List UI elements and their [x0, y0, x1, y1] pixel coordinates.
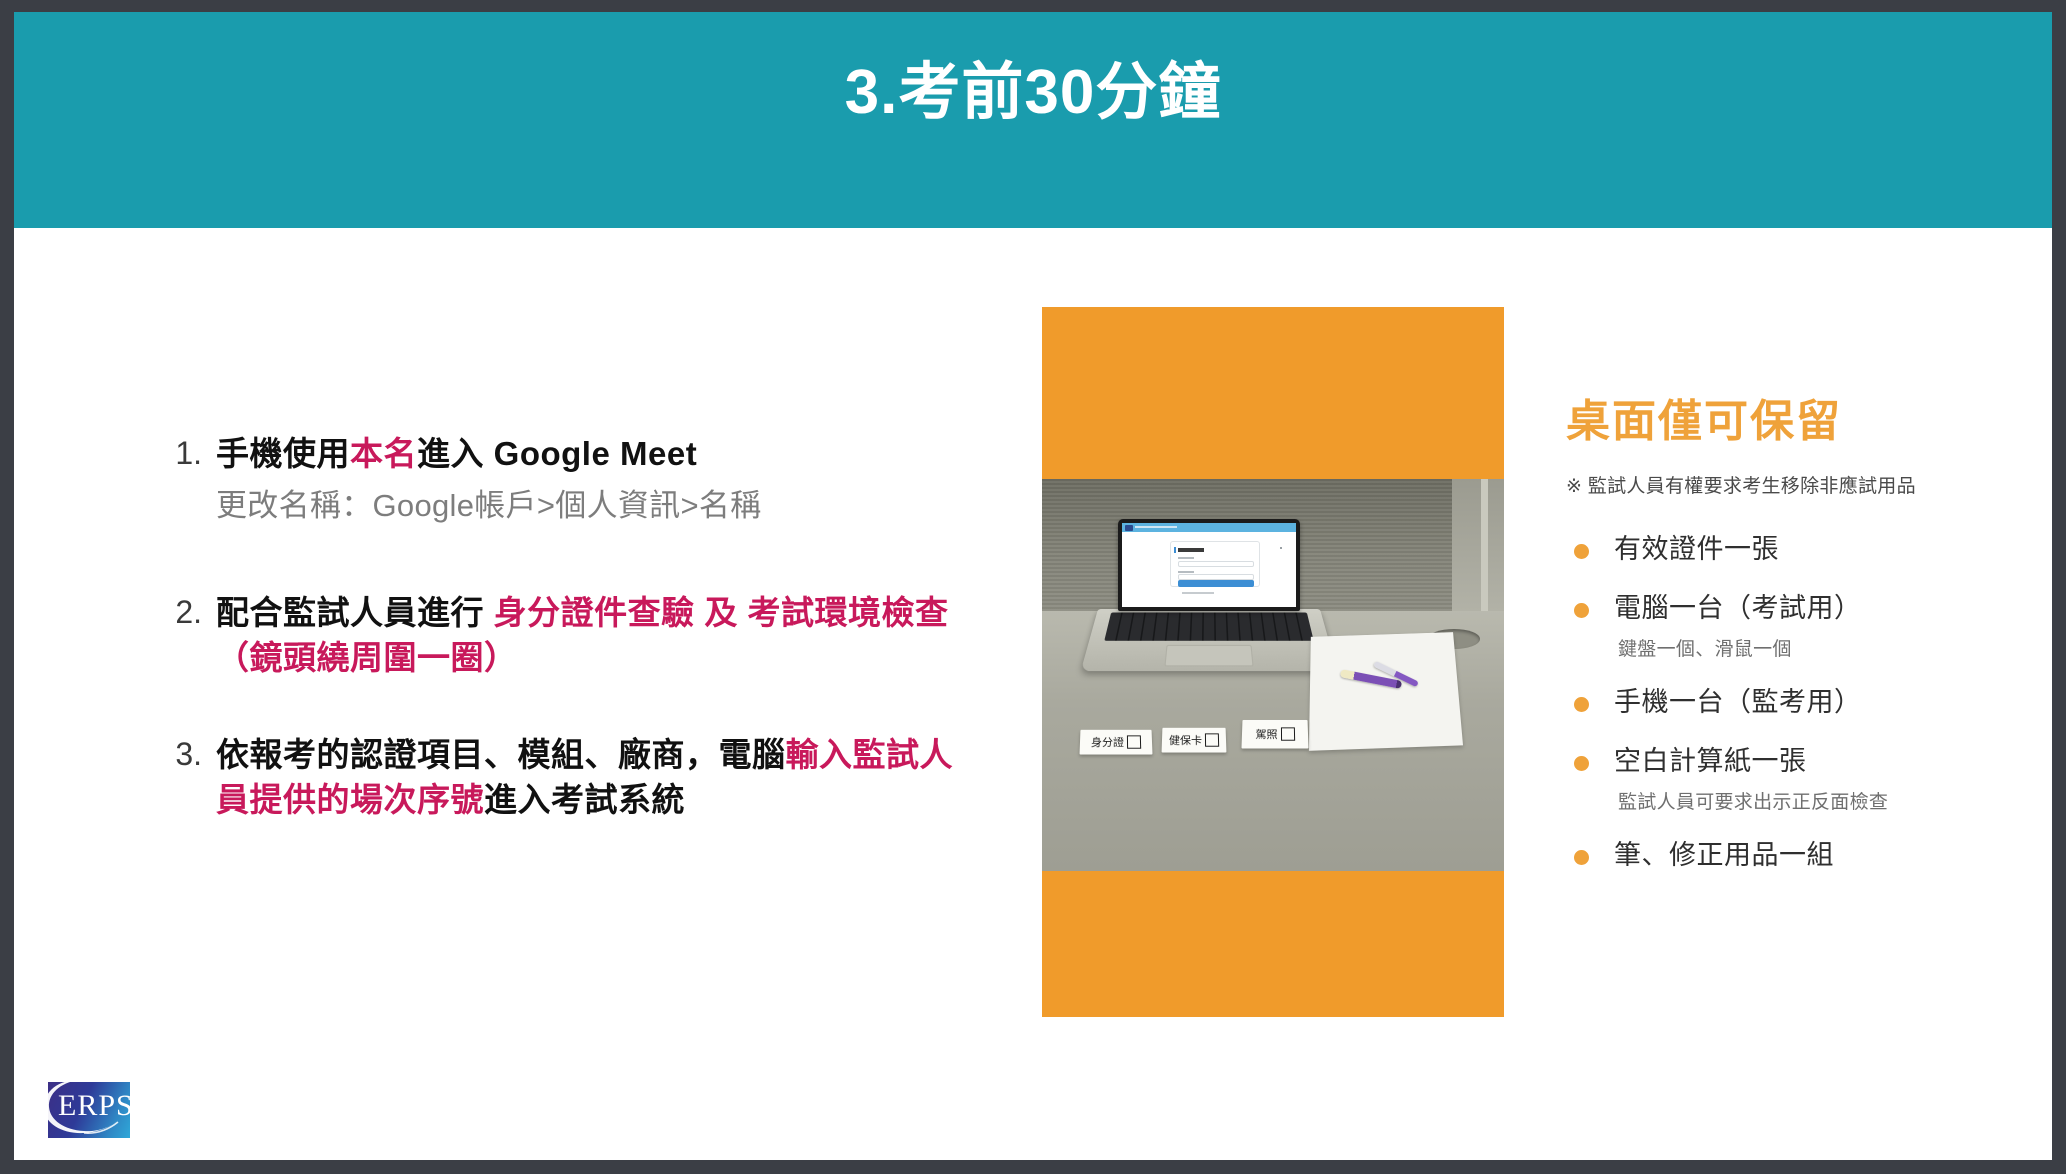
screen-card-title: [1178, 548, 1204, 552]
list-item-subtext: 監試人員可要求出示正反面檢查: [1618, 787, 2006, 814]
list-item-text: 空白計算紙一張: [1614, 744, 2006, 779]
list-item-text: 筆、修正用品一組: [1614, 838, 2006, 873]
blank-paper: [1309, 632, 1463, 751]
list-item: 空白計算紙一張 監試人員可要求出示正反面檢查: [1566, 744, 2006, 814]
text-segment: 依報考的認證項目、模組、廠商，電腦: [216, 736, 786, 773]
list-item: 電腦一台（考試用） 鍵盤一個、滑鼠一個: [1566, 591, 2006, 661]
laptop-base: [1081, 609, 1338, 671]
screen-input-field: [1178, 561, 1254, 567]
id-card-photo-box: [1280, 727, 1294, 740]
text-segment: 手機使用: [216, 435, 350, 472]
cerps-logo: ERPS: [38, 1076, 130, 1138]
slide-frame: 3.考前30分鐘 1. 手機使用本名進入 Google Meet 更改名稱：Go…: [14, 12, 2052, 1160]
list-item-number: 1.: [154, 432, 202, 475]
list-item: 筆、修正用品一組: [1566, 838, 2006, 873]
screen-login-card: [1170, 541, 1260, 587]
screen-card-accent-bar: [1174, 547, 1176, 553]
list-item-body: 手機使用本名進入 Google Meet 更改名稱：Google帳戶>個人資訊>…: [216, 432, 984, 529]
id-card-label: 駕照: [1255, 726, 1277, 741]
screen-login-button: [1178, 580, 1254, 587]
text-segment-highlight: 本名: [350, 435, 417, 472]
bullet-icon: [1574, 697, 1589, 712]
list-item-text: 配合監試人員進行 身分證件查驗 及 考試環境檢查（鏡頭繞周圍一圈）: [216, 591, 984, 681]
text-segment: 進入 Google Meet: [417, 435, 697, 472]
id-card-label: 身分證: [1091, 734, 1124, 749]
text-segment: 進入考試系統: [484, 781, 685, 818]
screen-field-label: [1178, 571, 1194, 573]
allowed-items-list: 有效證件一張 電腦一台（考試用） 鍵盤一個、滑鼠一個 手機一台（監考用） 空白計…: [1566, 532, 2006, 873]
list-item-text: 手機使用本名進入 Google Meet: [216, 432, 984, 477]
page-title: 3.考前30分鐘: [14, 56, 2052, 130]
bullet-icon: [1574, 756, 1589, 771]
id-card-photo-box: [1205, 733, 1219, 746]
photo-panel: 身分證 健保卡 駕照: [1042, 307, 1504, 1017]
desk-setup-photo: 身分證 健保卡 駕照: [1042, 479, 1504, 871]
id-card-health: 健保卡: [1162, 728, 1227, 753]
screen-topbar: [1122, 523, 1296, 532]
screen-site-logo-icon: [1125, 525, 1133, 531]
id-card-national: 身分證: [1080, 730, 1153, 755]
list-item: 有效證件一張: [1566, 532, 2006, 567]
id-card-photo-box: [1127, 735, 1141, 748]
bullet-icon: [1574, 603, 1589, 618]
list-item-number: 3.: [154, 733, 202, 776]
bullet-icon: [1574, 544, 1589, 559]
text-segment: 配合監試人員進行: [216, 594, 494, 631]
screen-misc-dot: [1280, 547, 1282, 549]
desk-allowed-items-panel: 桌面僅可保留 ※ 監試人員有權要求考生移除非應試用品 有效證件一張 電腦一台（考…: [1566, 396, 2006, 897]
list-item-text: 電腦一台（考試用）: [1614, 591, 2006, 626]
list-item-subtext: 鍵盤一個、滑鼠一個: [1618, 634, 2006, 661]
list-item-text: 依報考的認證項目、模組、廠商，電腦輸入監試人員提供的場次序號進入考試系統: [216, 733, 984, 823]
list-item-number: 2.: [154, 591, 202, 634]
list-item: 3. 依報考的認證項目、模組、廠商，電腦輸入監試人員提供的場次序號進入考試系統: [154, 733, 984, 823]
wall-post: [1481, 479, 1488, 629]
laptop-lid: [1118, 519, 1300, 611]
list-item-body: 依報考的認證項目、模組、廠商，電腦輸入監試人員提供的場次序號進入考試系統: [216, 733, 984, 823]
list-item-text: 手機一台（監考用）: [1614, 685, 2006, 720]
screen-footer-text: [1182, 592, 1214, 594]
logo-swoosh-icon: [38, 1076, 130, 1138]
screen-site-title: [1135, 526, 1177, 528]
instruction-list: 1. 手機使用本名進入 Google Meet 更改名稱：Google帳戶>個人…: [154, 432, 984, 857]
list-item: 2. 配合監試人員進行 身分證件查驗 及 考試環境檢查（鏡頭繞周圍一圈）: [154, 591, 984, 681]
list-item-body: 配合監試人員進行 身分證件查驗 及 考試環境檢查（鏡頭繞周圍一圈）: [216, 591, 984, 681]
list-item: 1. 手機使用本名進入 Google Meet 更改名稱：Google帳戶>個人…: [154, 432, 984, 529]
right-panel-note: ※ 監試人員有權要求考生移除非應試用品: [1566, 471, 2006, 498]
list-item-text: 有效證件一張: [1614, 532, 2006, 567]
laptop-trackpad: [1164, 645, 1253, 667]
laptop-screen: [1122, 523, 1296, 607]
id-card-driver: 駕照: [1241, 720, 1308, 749]
laptop-keyboard: [1104, 612, 1313, 640]
right-panel-heading: 桌面僅可保留: [1566, 396, 2006, 449]
screen-field-label: [1178, 557, 1194, 559]
list-item-subtext: 更改名稱：Google帳戶>個人資訊>名稱: [216, 483, 984, 530]
wall-right-panel: [1452, 479, 1504, 629]
bullet-icon: [1574, 850, 1589, 865]
list-item: 手機一台（監考用）: [1566, 685, 2006, 720]
id-card-label: 健保卡: [1169, 732, 1202, 747]
